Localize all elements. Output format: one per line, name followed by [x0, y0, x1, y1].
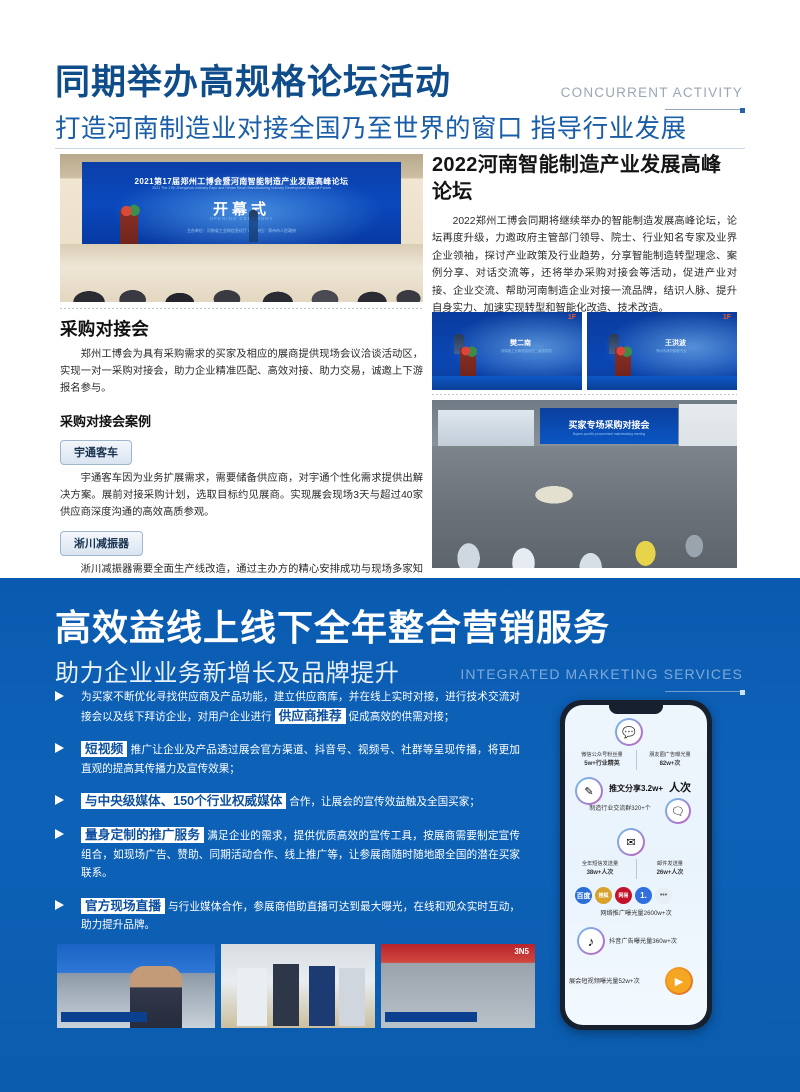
floor-sign: 1F: [568, 314, 576, 321]
case-body-yutong: 宇通客车因为业务扩展需求，需要储备供应商，对宇通个性化需求提供出解决方案。展前对…: [60, 470, 423, 522]
list-item: 量身定制的推广服务 满足企业的需求，提供优质高效的宣传工具，按展商需要制定宣传组…: [55, 826, 520, 883]
right-dotted-divider: [432, 394, 737, 395]
phone-screen: 💬 微信公众号粉丝量 5w+行业精英 朋友圈广告曝光量 82w+次 ✎ 推文分享…: [565, 705, 707, 1025]
stat-article-label: 推文分享3.2w+: [609, 783, 663, 794]
stat-mail-value: 26w+人次: [637, 869, 703, 877]
page-subtitle: 打造河南制造业对接全国乃至世界的窗口 指导行业发展: [55, 108, 745, 145]
photo-strip-interview: [57, 944, 215, 1028]
person-figure: [273, 964, 299, 1026]
list-item: 与中央级媒体、150个行业权威媒体 合作，让展会的宣传效益触及全国买家；: [55, 792, 520, 812]
attendee-tables: [432, 446, 737, 568]
stat-sms-label: 全年短信发送量: [567, 860, 633, 868]
person-figure: [309, 966, 335, 1026]
banner-title-en: Buyers specific procurement matchmaking …: [540, 432, 678, 436]
yidian-icon: 1.: [635, 887, 652, 904]
phone-mockup: 💬 微信公众号粉丝量 5w+行业精英 朋友圈广告曝光量 82w+次 ✎ 推文分享…: [560, 700, 712, 1030]
arrow-right-icon: [55, 900, 64, 910]
marketing-section: 高效益线上线下全年整合营销服务 助力企业业务新增长及品牌提升 INTEGRATE…: [0, 578, 800, 1092]
phone-notch: [609, 705, 663, 714]
list-item: 为买家不断优化寻找供应商及产品功能，建立供应商库，并在线上实时对接，进行技术交流…: [55, 688, 520, 726]
photo-strip-media: [221, 944, 375, 1028]
arrow-right-icon: [55, 829, 64, 839]
person-figure: [237, 968, 267, 1026]
item-highlight: 与中央级媒体、150个行业权威媒体: [81, 793, 286, 809]
case-chip-yutong[interactable]: 宇通客车: [60, 440, 132, 465]
title-dot: [740, 108, 745, 113]
procurement-heading: 采购对接会: [60, 316, 423, 341]
poster-page: 同期举办高规格论坛活动 CONCURRENT ACTIVITY 打造河南制造业对…: [0, 0, 800, 1092]
item-highlight: 官方现场直播: [81, 898, 165, 914]
stage-floor: [432, 376, 582, 390]
stat-sms-value: 38w+人次: [567, 869, 633, 877]
marketing-rule: [665, 691, 743, 692]
stat-web: 网络推广曝光量2600w+次: [565, 910, 707, 918]
forum-header: 同期举办高规格论坛活动 CONCURRENT ACTIVITY 打造河南制造业对…: [55, 62, 745, 145]
stat-wechat-value: 5w+行业精英: [569, 760, 635, 768]
lower-third-banner: [385, 1012, 477, 1022]
list-item: 短视频 推广让企业及产品透过展会官方渠道、抖音号、视频号、社群等呈现传播，将更加…: [55, 740, 520, 778]
forum-section: 同期举办高规格论坛活动 CONCURRENT ACTIVITY 打造河南制造业对…: [0, 0, 800, 578]
stage-floor: [587, 376, 737, 390]
flower-arrangement: [611, 345, 633, 357]
item-post: 合作，让展会的宣传效益触及全国买家；: [286, 796, 480, 808]
stage-banner: 买家专场采购对接会 Buyers specific procurement ma…: [540, 408, 678, 444]
arrow-right-icon: [55, 795, 64, 805]
stat-moments-value: 82w+次: [637, 760, 703, 768]
marketing-list: 为买家不断优化寻找供应商及产品功能，建立供应商库，并在线上实时对接，进行技术交流…: [55, 688, 520, 949]
header-divider: [55, 148, 745, 149]
banner-title: 买家专场采购对接会: [540, 418, 678, 431]
stat-article-unit: 人次: [669, 779, 691, 795]
procurement-cases-heading: 采购对接会案例: [60, 411, 423, 430]
rostrum-speaker-name: 樊二南: [510, 338, 531, 348]
item-post: 推广让企业及产品透过展会官方渠道、抖音号、视频号、社群等呈现传播，将更加直观的提…: [81, 744, 520, 775]
photo-opening-ceremony: 2021第17届郑州工博会暨河南智能制造产业发展高峰论坛 2021 The 17…: [60, 154, 423, 302]
douyin-icon: ♪: [577, 927, 605, 955]
photo-buyer-matchmaking: 买家专场采购对接会 Buyers specific procurement ma…: [432, 400, 737, 568]
item-highlight: 供应商推荐: [275, 708, 346, 724]
procurement-body: 郑州工博会为具有采购需求的买家及相应的展商提供现场会议洽谈活动区，实现一对一采购…: [60, 346, 423, 398]
stage-title-en: 2021 The 17th Zhengzhou Industry Expo an…: [82, 186, 401, 190]
forum-body: 2022郑州工博会同期将继续举办的智能制造发展高峰论坛，论坛再度升级，力邀政府主…: [432, 213, 737, 317]
chat-bubble-icon: 🗨: [665, 798, 691, 824]
flower-arrangement: [456, 345, 478, 357]
forum-heading: 2022河南智能制造产业发展高峰论坛: [432, 152, 737, 206]
speaker-figure: [249, 210, 258, 242]
stat-video: 展会短视频曝光量52w+次: [565, 978, 663, 986]
video-play-icon: ▶: [665, 967, 693, 995]
photo-rostrum-1: 1F 樊二南 河南省工业和信息化厅二级巡视员: [432, 312, 582, 390]
photo-rostrum-2: 1F 王洪波 郑州市政府副秘书长: [587, 312, 737, 390]
audience-crowd: [60, 244, 423, 302]
case-item: 宇通客车 宇通客车因为业务扩展需求，需要储备供应商，对宇通个性化需求提供出解决方…: [60, 430, 423, 522]
item-highlight: 短视频: [81, 741, 127, 757]
marketing-header: 高效益线上线下全年整合营销服务 助力企业业务新增长及品牌提升 INTEGRATE…: [55, 606, 745, 688]
marketing-dot: [740, 690, 745, 695]
stat-mail-label: 邮件发送量: [637, 860, 703, 868]
forum-intro: 2022河南智能制造产业发展高峰论坛 2022郑州工博会同期将继续举办的智能制造…: [432, 152, 737, 317]
mail-icon: ✉: [617, 828, 645, 856]
procurement-block: 采购对接会 郑州工博会为具有采购需求的买家及相应的展商提供现场会议洽谈活动区，实…: [60, 316, 423, 596]
marketing-title-en: INTEGRATED MARKETING SERVICES: [460, 666, 743, 682]
photo-strip-booth: 3N5: [381, 944, 535, 1028]
sohu-icon: 搜狐: [595, 887, 612, 904]
stat-group: 制造行业交流群320+个: [565, 805, 675, 813]
arrow-right-icon: [55, 743, 64, 753]
page-title-en: CONCURRENT ACTIVITY: [561, 85, 743, 100]
brand-icon-row: 百度 搜狐 网易 1. •••: [575, 887, 672, 904]
marketing-title: 高效益线上线下全年整合营销服务: [55, 606, 745, 650]
list-item: 官方现场直播 与行业媒体合作，参展商借助直播可达到最大曝光，在线和观众实时互动，…: [55, 897, 520, 935]
case-chip-xichuan[interactable]: 淅川减振器: [60, 531, 143, 556]
stat-douyin: 抖音广告曝光量360w+次: [609, 938, 707, 946]
lower-third-banner: [61, 1012, 147, 1022]
wechat-icon: 💬: [615, 718, 643, 746]
arrow-right-icon: [55, 691, 64, 701]
baidu-icon: 百度: [575, 887, 592, 904]
item-post: 促成高效的供需对接；: [346, 711, 455, 723]
booth-sign: 3N5: [514, 947, 529, 956]
netease-icon: 网易: [615, 887, 632, 904]
rostrum-speaker-name: 王洪波: [665, 338, 686, 348]
rostrum-speaker-title: 河南省工业和信息化厅二级巡视员: [501, 348, 552, 353]
title-rule: [665, 109, 743, 110]
person-figure: [339, 968, 365, 1026]
pencil-icon: ✎: [575, 777, 603, 805]
stat-wechat-label: 微信公众号粉丝量: [569, 751, 635, 759]
floor-sign: 1F: [723, 314, 731, 321]
item-highlight: 量身定制的推广服务: [81, 827, 204, 843]
left-dotted-divider: [60, 308, 423, 309]
stat-moments-label: 朋友圈广告曝光量: [637, 751, 703, 759]
rostrum-speaker-title: 郑州市政府副秘书长: [656, 348, 687, 353]
more-icon: •••: [655, 887, 672, 904]
flower-arrangement: [116, 204, 142, 218]
